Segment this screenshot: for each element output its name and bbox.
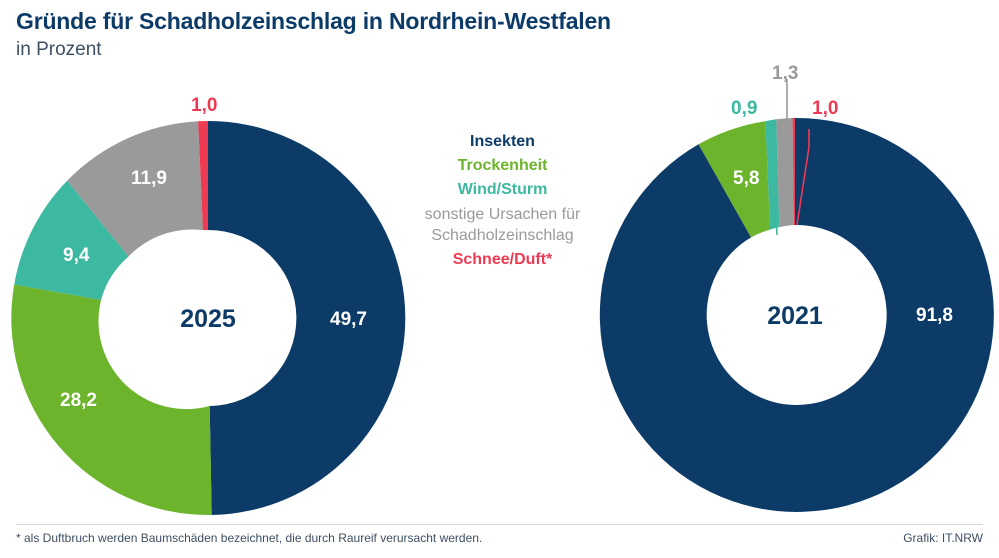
donut-center-year-2025: 2025 — [128, 305, 288, 334]
value-label-trockenheit-2021: 5,8 — [733, 168, 759, 190]
footer-divider — [16, 524, 983, 525]
value-label-insekten-2021: 91,8 — [916, 305, 953, 327]
value-label-wind-2025: 9,4 — [63, 245, 89, 267]
legend-item-sonstige-ursachen[interactable]: sonstige Ursachen für Schadholzeinschlag — [395, 202, 610, 248]
legend-item-schnee-duft[interactable]: Schnee/Duft* — [395, 248, 610, 272]
value-label-sonstige-2021: 1,3 — [772, 63, 798, 85]
value-label-schnee-2021: 1,0 — [812, 98, 838, 120]
value-label-wind-2021: 0,9 — [731, 98, 757, 120]
legend-item-trockenheit[interactable]: Trockenheit — [395, 154, 610, 178]
value-label-sonstige-2025: 11,9 — [131, 168, 167, 190]
donut-center-year-2021: 2021 — [715, 302, 875, 331]
legend-item-insekten[interactable]: Insekten — [395, 130, 610, 154]
value-label-insekten-2025: 49,7 — [330, 309, 367, 331]
value-label-trockenheit-2025: 28,2 — [60, 390, 97, 412]
footnote-text: * als Duftbruch werden Baumschäden bezei… — [16, 531, 482, 545]
credit-text: Grafik: IT.NRW — [903, 531, 983, 545]
chart-plot-area: 2025 49,7 28,2 9,4 11,9 1,0 2021 91,8 5,… — [0, 0, 999, 558]
value-label-schnee-2025: 1,0 — [191, 95, 217, 117]
legend-item-wind-sturm[interactable]: Wind/Sturm — [395, 178, 610, 202]
legend: Insekten Trockenheit Wind/Sturm sonstige… — [395, 130, 610, 272]
